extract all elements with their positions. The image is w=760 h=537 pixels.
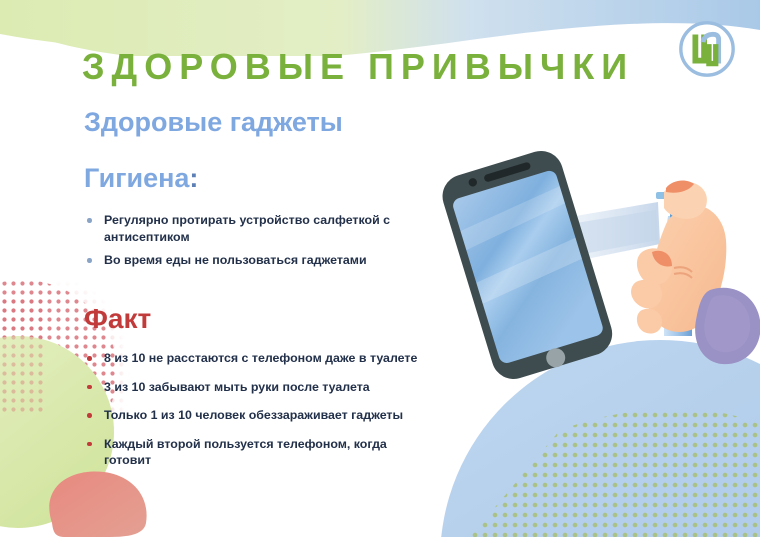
fact-heading: Факт — [84, 303, 151, 335]
smartphone-illustration — [437, 145, 618, 384]
hygiene-bullet-list: Регулярно протирать устройство салфеткой… — [84, 212, 444, 276]
text-content: ЗДОРОВЫЕ ПРИВЫЧКИ Здоровые гаджеты Гигие… — [0, 0, 470, 537]
list-item: Только 1 из 10 человек обеззараживает га… — [84, 407, 434, 424]
list-item: Регулярно протирать устройство салфеткой… — [84, 212, 444, 245]
list-item: Каждый второй пользуется телефоном, когд… — [84, 436, 434, 469]
hygiene-heading-text: Гигиена — [84, 163, 189, 193]
list-item: 3 из 10 забывают мыть руки после туалета — [84, 379, 434, 396]
company-logo — [676, 18, 738, 80]
page-subtitle: Здоровые гаджеты — [84, 107, 343, 138]
hygiene-heading-colon: : — [189, 163, 198, 193]
hygiene-illustration — [420, 140, 760, 400]
fact-bullet-list: 8 из 10 не расстаются с телефоном даже в… — [84, 350, 434, 481]
list-item: Во время еды не пользоваться гаджетами — [84, 252, 444, 269]
list-item: 8 из 10 не расстаются с телефоном даже в… — [84, 350, 434, 367]
page-title: ЗДОРОВЫЕ ПРИВЫЧКИ — [82, 46, 634, 88]
hygiene-heading: Гигиена: — [84, 163, 198, 194]
poster-canvas: ЗДОРОВЫЕ ПРИВЫЧКИ Здоровые гаджеты Гигие… — [0, 0, 760, 537]
